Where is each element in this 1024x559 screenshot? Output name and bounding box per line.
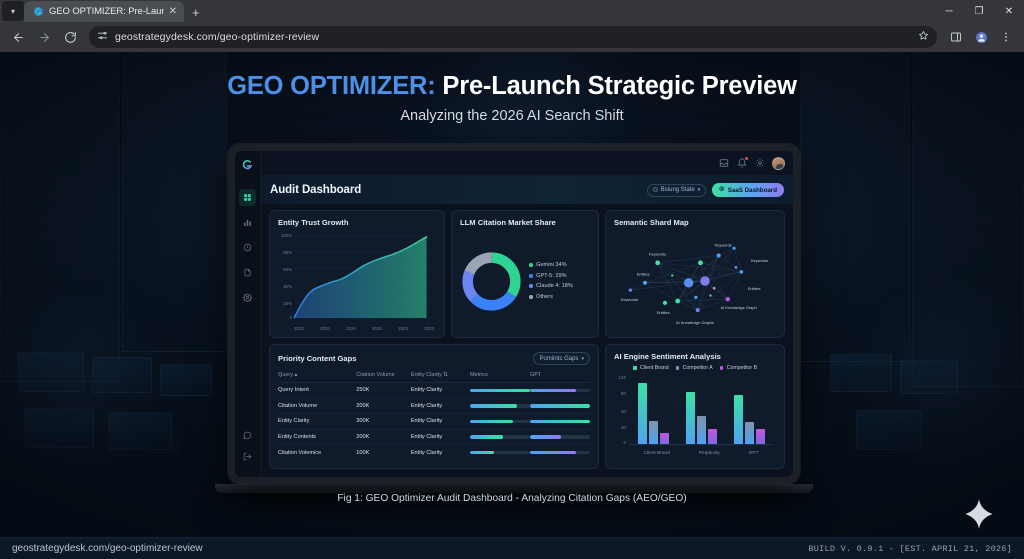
donut-svg: [460, 250, 523, 313]
sidebar-item-support[interactable]: [239, 427, 256, 444]
table-row[interactable]: Entity Contents 200K Entity Clarity: [278, 429, 590, 445]
saas-dashboard-button[interactable]: SaaS Dashboard: [712, 183, 784, 197]
node-label: Entities: [657, 310, 670, 315]
cell-metrics: [470, 398, 530, 414]
node-label: Keywords: [715, 242, 732, 247]
col-label-entity-clarity: Entity Clarity: [411, 372, 442, 378]
cell-gpt: [530, 429, 590, 445]
toolbar-right-icons: [944, 25, 1018, 49]
node-label: Keywords: [621, 297, 638, 302]
cell-entity-clarity: Entity Clarity: [411, 398, 470, 414]
card-title: Entity Trust Growth: [278, 218, 436, 227]
reload-icon[interactable]: [58, 25, 82, 49]
line-chart: 100% 80% 60% 40% 20% 0: [278, 231, 436, 331]
cell-citation-volume: 300K: [356, 414, 411, 430]
card-title: LLM Citation Market Share: [460, 218, 590, 227]
legend-item: GPT-5: 29%: [529, 273, 573, 279]
x-axis-labels: 2023 2024 2324 2022 2023 2023: [294, 326, 434, 331]
cell-query: Entity Contents: [278, 429, 356, 445]
bar: [660, 433, 669, 444]
legend-swatch: [633, 366, 637, 370]
cell-citation-volume: 250K: [356, 383, 411, 399]
geo-logo-icon: [33, 6, 44, 17]
address-bar[interactable]: geostrategydesk.com/geo-optimizer-review: [89, 26, 937, 48]
page-title-plain: Pre-Launch Strategic Preview: [442, 72, 796, 100]
close-window-button[interactable]: ✕: [994, 0, 1024, 22]
cell-metrics: [470, 429, 530, 445]
col-citation-volume[interactable]: Citation Volume: [356, 369, 411, 383]
y-tick-label: 40: [614, 409, 626, 414]
legend-label: Gemini 34%: [536, 262, 566, 268]
col-label-query: Query: [278, 372, 293, 378]
legend-swatch: [529, 274, 533, 278]
side-panel-icon[interactable]: [944, 25, 968, 49]
node-label: AI Knowledge Graphs: [676, 320, 714, 325]
window-controls: ─ ❐ ✕: [934, 0, 1024, 22]
cell-query: Query Intent: [278, 383, 356, 399]
square-icon: [653, 187, 658, 194]
page-content: GEO OPTIMIZER: Pre-Launch Strategic Prev…: [0, 52, 1024, 559]
geo-logo-icon[interactable]: [241, 158, 254, 176]
browser-tabstrip: ▾ GEO OPTIMIZER: Pre-Launch ✕ + ─ ❐ ✕: [0, 0, 1024, 22]
app-sidebar: [235, 151, 261, 477]
table-row[interactable]: Citation Volume 200K Entity Clarity: [278, 398, 590, 414]
bar: [686, 392, 695, 444]
legend-label: Client Brand: [640, 365, 669, 371]
status-bar: geostrategydesk.com/geo-optimizer-review…: [0, 537, 1024, 559]
x-tick-label: 2023: [398, 326, 408, 331]
bar-group: [734, 377, 765, 444]
legend-item: Gemini 34%: [529, 262, 573, 268]
cell-metrics: [470, 445, 530, 460]
y-tick-label: 0: [278, 315, 292, 320]
bar: [649, 421, 658, 444]
network-graph-svg: Keywords Keywords Keywords Keywords Enti…: [614, 231, 776, 331]
sort-toggle-icon: ⇅: [443, 372, 448, 378]
figure-caption: Fig 1: GEO Optimizer Audit Dashboard - A…: [0, 493, 1024, 504]
y-tick-label: 20%: [278, 301, 292, 306]
legend-label: Claude 4: 18%: [536, 283, 573, 289]
card-title: Priority Content Gaps: [278, 354, 356, 363]
card-priority-content-gaps: Priority Content Gaps Pomiintc Gaps ▾: [269, 344, 599, 469]
x-tick-label: Client Brand: [643, 451, 669, 456]
legend-item: Client Brand: [633, 365, 669, 371]
page-title: GEO OPTIMIZER: Pre-Launch Strategic Prev…: [0, 72, 1024, 100]
star-icon[interactable]: [918, 28, 929, 46]
line-chart-plot: [294, 234, 434, 320]
bar: [745, 422, 754, 444]
status-build: BUILD V. 0.9.1 - [EST. APRIL 21, 2026]: [808, 544, 1012, 554]
profile-avatar-icon[interactable]: [969, 25, 993, 49]
inbox-icon[interactable]: [718, 158, 729, 169]
table-header-row: Query ▴ Citation Volume Entity Clarity ⇅: [278, 369, 590, 383]
tab-search-chevron-down-icon[interactable]: ▾: [2, 1, 24, 21]
legend-item: Competitor A: [676, 365, 713, 371]
bar: [697, 416, 706, 444]
sidebar-item-targets[interactable]: [239, 239, 256, 256]
bar: [756, 429, 765, 444]
cell-gpt: [530, 398, 590, 414]
bar-group: [686, 377, 717, 444]
url-text: geostrategydesk.com/geo-optimizer-review: [115, 31, 319, 43]
tab-title: GEO OPTIMIZER: Pre-Launch: [49, 6, 164, 17]
kebab-menu-icon[interactable]: [994, 25, 1018, 49]
cell-query: Entity Clarity: [278, 414, 356, 430]
bar-chart-plot: [629, 377, 773, 445]
legend-item: Others: [529, 294, 573, 300]
cell-gpt: [530, 414, 590, 430]
legend-swatch: [720, 366, 724, 370]
x-tick-label: 2324: [346, 326, 356, 331]
table-row[interactable]: Entity Clarity 300K Entity Clarity: [278, 414, 590, 430]
arrow-left-icon[interactable]: [6, 25, 30, 49]
state-filter-button[interactable]: Bsiung State ▾: [647, 184, 707, 197]
hero-section: GEO OPTIMIZER: Pre-Launch Strategic Prev…: [0, 52, 1024, 124]
legend-swatch: [529, 295, 533, 299]
col-query[interactable]: Query ▴: [278, 369, 356, 383]
gear-icon[interactable]: [754, 158, 765, 169]
page-subtitle: Analyzing the 2026 AI Search Shift: [0, 108, 1024, 124]
page-title-accent: GEO OPTIMIZER:: [227, 72, 435, 100]
node-label: Keywords: [649, 252, 666, 257]
cell-citation-volume: 200K: [356, 398, 411, 414]
gaps-filter-label: Pomiintc Gaps: [539, 356, 578, 362]
table-row[interactable]: Citation Volemice 100K Entity Clarity: [278, 445, 590, 460]
arrow-right-icon[interactable]: [32, 25, 56, 49]
cell-metrics: [470, 414, 530, 430]
bar: [734, 395, 743, 444]
sidebar-item-analytics[interactable]: [239, 214, 256, 231]
header-actions: Bsiung State ▾ SaaS Dashboard: [647, 183, 784, 197]
card-llm-citation-market-share: LLM Citation Market Share: [451, 210, 599, 338]
x-tick-label: GPT: [749, 451, 759, 456]
node-label: Entities: [748, 286, 761, 291]
network-graph: Keywords Keywords Keywords Keywords Enti…: [614, 231, 776, 331]
cell-query: Citation Volemice: [278, 445, 356, 460]
card-title: AI Engine Sentiment Analysis: [614, 352, 776, 361]
y-tick-label: 0: [614, 440, 626, 445]
legend-label: Others: [536, 294, 553, 300]
cell-gpt: [530, 445, 590, 460]
target-icon: [719, 186, 725, 194]
bell-icon[interactable]: [736, 158, 747, 169]
bar-chart: 120 90 40 20 0: [614, 374, 776, 456]
legend-label: Competitor B: [727, 365, 757, 371]
cell-entity-clarity: Entity Clarity: [411, 445, 470, 460]
chevron-down-icon: ▾: [698, 187, 701, 193]
legend-swatch: [529, 263, 533, 267]
bar-chart-legend: Client Brand Competitor A Competitor B: [614, 365, 776, 371]
sidebar-item-reports[interactable]: [239, 264, 256, 281]
gaps-table: Query ▴ Citation Volume Entity Clarity ⇅: [278, 369, 590, 460]
device-mockup: Audit Dashboard Bsiung State ▾: [228, 144, 800, 484]
cell-query: Citation Volume: [278, 398, 356, 414]
card-title: Semantic Shard Map: [614, 218, 776, 227]
donut-chart: Gemini 34% GPT-5: 29% Clau: [460, 231, 590, 331]
bar: [708, 429, 717, 444]
sidebar-item-settings[interactable]: [239, 289, 256, 306]
x-tick-label: 2023: [424, 326, 434, 331]
y-tick-label: 80%: [278, 250, 292, 255]
close-icon[interactable]: ✕: [169, 7, 177, 17]
legend-label: GPT-5: 29%: [536, 273, 566, 279]
status-url: geostrategydesk.com/geo-optimizer-review: [12, 543, 203, 554]
maximize-button[interactable]: ❐: [964, 0, 994, 22]
bar-chart-x-labels: Client Brand Perplexity GPT: [629, 451, 773, 456]
sort-asc-icon: ▴: [295, 372, 298, 378]
app-header: Audit Dashboard Bsiung State ▾: [261, 176, 793, 204]
card-semantic-shard-map: Semantic Shard Map: [605, 210, 785, 338]
y-tick-label: 40%: [278, 284, 292, 289]
device-base: [215, 484, 813, 493]
app-main: Audit Dashboard Bsiung State ▾: [261, 151, 793, 477]
sidebar-item-logout[interactable]: [239, 452, 256, 469]
cell-entity-clarity: Entity Clarity: [411, 429, 470, 445]
browser-tab-active[interactable]: GEO OPTIMIZER: Pre-Launch ✕: [24, 1, 184, 22]
saas-dashboard-label: SaaS Dashboard: [728, 187, 777, 194]
cell-citation-volume: 100K: [356, 445, 411, 460]
cell-entity-clarity: Entity Clarity: [411, 414, 470, 430]
y-tick-label: 120: [614, 375, 626, 380]
x-tick-label: 2022: [372, 326, 382, 331]
sidebar-item-dashboard[interactable]: [239, 189, 256, 206]
notification-badge: [744, 156, 750, 162]
cell-gpt: [530, 383, 590, 399]
cell-metrics: [470, 383, 530, 399]
y-tick-label: 100%: [278, 233, 292, 238]
card-ai-engine-sentiment-analysis: AI Engine Sentiment Analysis Client Bran…: [605, 344, 785, 469]
state-filter-label: Bsiung State: [661, 187, 695, 193]
app-body: Entity Trust Growth 100% 80% 60% 40% 20%…: [261, 204, 793, 477]
new-tab-button[interactable]: +: [184, 6, 208, 19]
node-label: Keywords: [751, 258, 768, 263]
legend-label: Competitor A: [683, 365, 713, 371]
bar-group: [638, 377, 669, 444]
gaps-filter-dropdown[interactable]: Pomiintc Gaps ▾: [533, 352, 590, 365]
donut-legend: Gemini 34% GPT-5: 29% Clau: [529, 262, 573, 300]
sparkle-icon: [962, 497, 996, 531]
x-tick-label: Perplexity: [699, 451, 720, 456]
y-tick-label: 60%: [278, 267, 292, 272]
legend-swatch: [529, 284, 533, 288]
chevron-down-icon: ▾: [581, 356, 584, 362]
minimize-button[interactable]: ─: [934, 0, 964, 22]
table-row[interactable]: Query Intent 250K Entity Clarity: [278, 383, 590, 399]
y-tick-label: 20: [614, 425, 626, 430]
avatar[interactable]: [772, 157, 785, 170]
x-tick-label: 2024: [320, 326, 330, 331]
cell-entity-clarity: Entity Clarity: [411, 383, 470, 399]
legend-item: Competitor B: [720, 365, 757, 371]
node-label: Entities: [637, 272, 650, 277]
app-topbar: [261, 151, 793, 176]
app-title: Audit Dashboard: [270, 184, 361, 196]
browser-window: ▾ GEO OPTIMIZER: Pre-Launch ✕ + ─ ❐ ✕: [0, 0, 1024, 559]
col-entity-clarity[interactable]: Entity Clarity ⇅: [411, 369, 470, 383]
browser-toolbar: geostrategydesk.com/geo-optimizer-review: [0, 22, 1024, 52]
legend-swatch: [676, 366, 680, 370]
card-entity-trust-growth: Entity Trust Growth 100% 80% 60% 40% 20%…: [269, 210, 445, 338]
tune-icon[interactable]: [97, 28, 108, 46]
node-label: AI Knowledge Graph: [721, 305, 757, 310]
cell-citation-volume: 200K: [356, 429, 411, 445]
y-tick-label: 90: [614, 391, 626, 396]
legend-item: Claude 4: 18%: [529, 283, 573, 289]
bar: [638, 383, 647, 444]
app-screen: Audit Dashboard Bsiung State ▾: [235, 151, 793, 477]
x-tick-label: 2023: [294, 326, 304, 331]
col-gpt[interactable]: GPT: [530, 369, 590, 383]
col-metrics[interactable]: Metrics: [470, 369, 530, 383]
